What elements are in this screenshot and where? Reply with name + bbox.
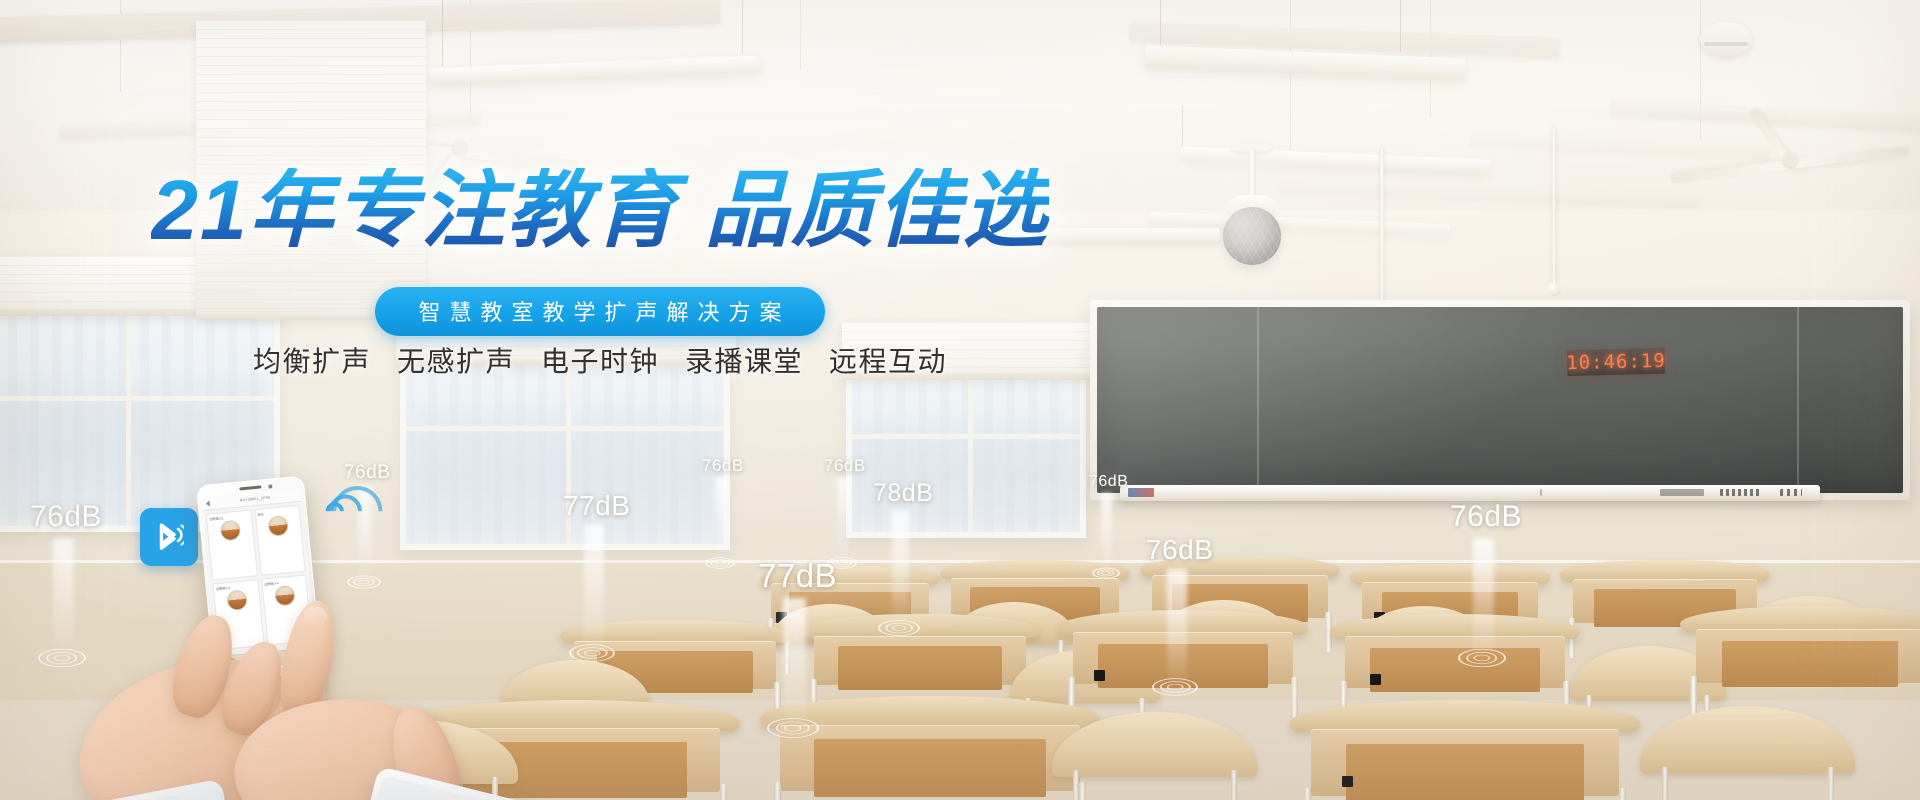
banner-stage: 10:46:19 <box>0 0 1920 800</box>
feature-keyword-5: 远程互动 <box>829 340 947 380</box>
student-desk <box>760 696 1100 800</box>
clock-time: 10:46:19 <box>1566 350 1666 374</box>
tagline-block: 智慧教室教学扩声解决方案 <box>0 287 1200 336</box>
channel-label: 音乐 <box>255 511 264 517</box>
bluetooth-badge[interactable] <box>140 508 198 566</box>
feature-keyword-4: 录播课堂 <box>685 340 803 380</box>
mixer-channel-2[interactable]: 音乐 <box>254 505 306 576</box>
phone-earpiece <box>239 485 261 490</box>
hand-pointing <box>245 640 545 800</box>
student-chair <box>1640 706 1855 800</box>
pendant-wire <box>742 0 743 54</box>
ceiling-speaker <box>1222 143 1282 273</box>
headline-part-2: 品质佳选 <box>705 163 1049 257</box>
student-desk <box>1290 700 1640 800</box>
student-desk <box>1680 606 1920 722</box>
wifi-signal-icon <box>322 455 378 511</box>
student-chair <box>1052 712 1258 800</box>
channel-label: 话筒输入1 <box>207 515 224 522</box>
feature-keyword-row: 均衡扩声无感扩声电子时钟录播课堂远程互动 <box>0 340 1200 380</box>
feature-keyword-3: 电子时钟 <box>541 340 659 380</box>
blackboard-tray <box>1120 485 1820 501</box>
rotary-knob[interactable] <box>219 520 241 542</box>
smart-blackboard <box>1090 300 1910 500</box>
hanging-mic-pole <box>1552 128 1556 286</box>
ceiling-ac-unit <box>1700 22 1752 56</box>
chevron-left-icon[interactable] <box>205 500 210 506</box>
channel-label: 话筒输入3 <box>214 585 231 592</box>
ceiling-line <box>1290 0 1291 150</box>
pendant-wire <box>1400 0 1401 52</box>
feature-keyword-2: 无感扩声 <box>397 340 515 380</box>
phone-front-camera <box>268 484 272 488</box>
rotary-knob[interactable] <box>268 515 290 537</box>
tagline-pill: 智慧教室教学扩声解决方案 <box>375 287 824 336</box>
fingernail <box>302 604 329 628</box>
pendant-wire <box>442 0 443 66</box>
led-digital-clock: 10:46:19 <box>1565 346 1668 378</box>
bluetooth-icon <box>154 518 184 556</box>
headline-part-1: 21年专注教育 <box>151 163 678 257</box>
channel-label: 话筒输入4 <box>262 580 279 587</box>
ceiling-line <box>800 0 801 70</box>
feature-keyword-1: 均衡扩声 <box>253 340 371 380</box>
page-title: 21年专注教育品质佳选 <box>151 168 1048 252</box>
headline-block: 21年专注教育品质佳选 <box>0 168 1200 252</box>
mixer-channel-1[interactable]: 话筒输入1 <box>206 510 258 581</box>
ceiling-fan <box>1660 140 1920 180</box>
